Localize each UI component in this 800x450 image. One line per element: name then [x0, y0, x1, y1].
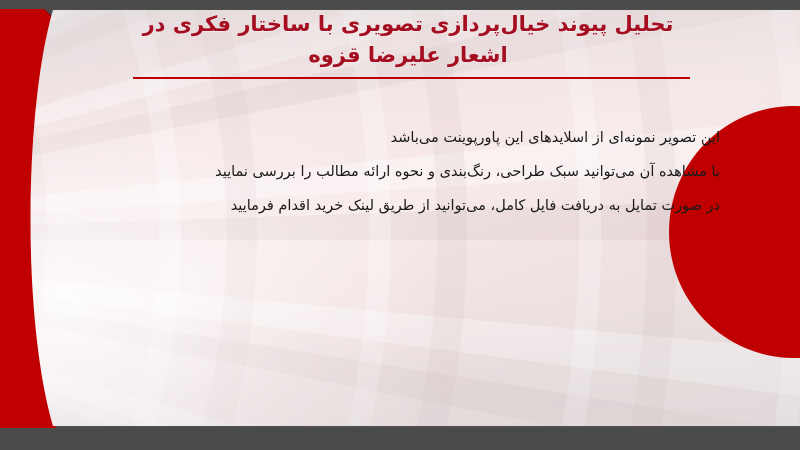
slide-body: این تصویر نمونه‌ای از اسلایدهای این پاور…	[100, 121, 720, 223]
dark-top-band	[0, 0, 800, 9]
presentation-slide: تحلیل پیوند خیال‌پردازی تصویری با ساختار…	[0, 0, 800, 450]
slide-body-line-1: این تصویر نمونه‌ای از اسلایدهای این پاور…	[100, 121, 720, 155]
slide-title-line-2: اشعار علیرضا قزوه	[118, 40, 698, 71]
slide-title: تحلیل پیوند خیال‌پردازی تصویری با ساختار…	[118, 9, 698, 71]
red-horizontal-rule	[133, 77, 690, 79]
slide-body-line-2: با مشاهده آن می‌توانید سبک طراحی، رنگ‌بن…	[100, 155, 720, 189]
dark-bottom-band	[0, 428, 800, 450]
slide-body-line-3: در صورت تمایل به دریافت فایل کامل، می‌تو…	[100, 189, 720, 223]
slide-title-line-1: تحلیل پیوند خیال‌پردازی تصویری با ساختار…	[118, 9, 698, 40]
